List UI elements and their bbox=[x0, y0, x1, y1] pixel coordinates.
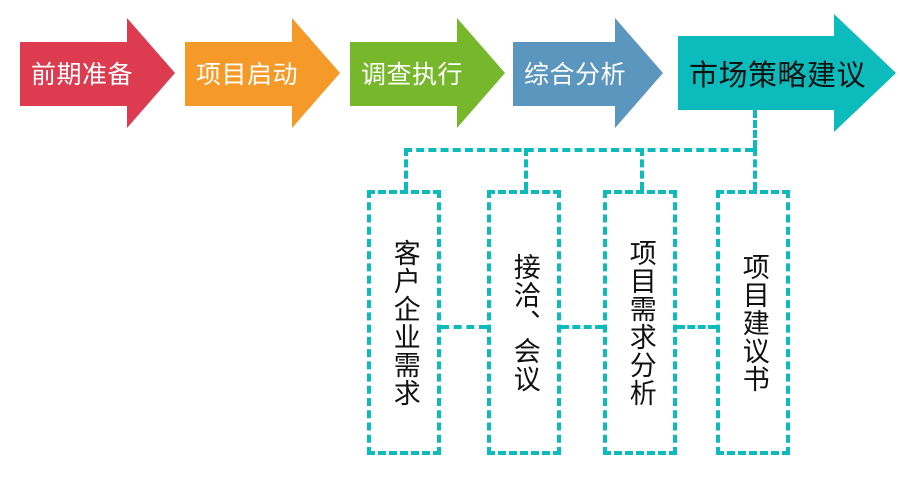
process-stage-2[interactable]: 项目启动 bbox=[185, 18, 340, 128]
process-stage-arrow-shape bbox=[513, 18, 663, 128]
deliverable-box-1[interactable]: 客户企业需求 bbox=[367, 190, 441, 455]
deliverable-box-label: 项目需求分析 bbox=[607, 194, 673, 451]
deliverable-box-label: 项目建议书 bbox=[720, 194, 786, 451]
process-stage-1[interactable]: 前期准备 bbox=[20, 18, 175, 128]
process-stage-4[interactable]: 综合分析 bbox=[513, 18, 663, 128]
connector-drop-2 bbox=[524, 148, 528, 190]
connector-drop-3 bbox=[640, 148, 644, 190]
connector-box-link-3 bbox=[677, 325, 716, 329]
process-stage-5[interactable]: 市场策略建议 bbox=[678, 14, 896, 132]
process-stage-arrow-shape bbox=[185, 18, 340, 128]
arrow-polygon bbox=[513, 18, 663, 128]
connector-drop-1 bbox=[404, 148, 408, 190]
connector-box-link-1 bbox=[441, 325, 487, 329]
process-stage-arrow-shape bbox=[678, 14, 896, 132]
arrow-polygon bbox=[185, 18, 340, 128]
connector-trunk bbox=[404, 148, 753, 152]
deliverable-box-2[interactable]: 接洽、会议 bbox=[487, 190, 561, 455]
arrow-polygon bbox=[350, 18, 505, 128]
process-stage-3[interactable]: 调查执行 bbox=[350, 18, 505, 128]
connector-source-drop bbox=[753, 110, 757, 148]
connector-drop-4 bbox=[753, 148, 757, 190]
arrow-polygon bbox=[678, 14, 896, 132]
deliverable-box-3[interactable]: 项目需求分析 bbox=[603, 190, 677, 455]
process-stage-arrow-shape bbox=[350, 18, 505, 128]
arrow-polygon bbox=[20, 18, 175, 128]
diagram-canvas: 前期准备项目启动调查执行综合分析市场策略建议 客户企业需求接洽、会议项目需求分析… bbox=[0, 0, 900, 480]
connector-box-link-2 bbox=[561, 325, 603, 329]
deliverable-box-label: 接洽、会议 bbox=[491, 194, 557, 451]
deliverable-box-label: 客户企业需求 bbox=[371, 194, 437, 451]
deliverable-box-4[interactable]: 项目建议书 bbox=[716, 190, 790, 455]
process-stage-arrow-shape bbox=[20, 18, 175, 128]
